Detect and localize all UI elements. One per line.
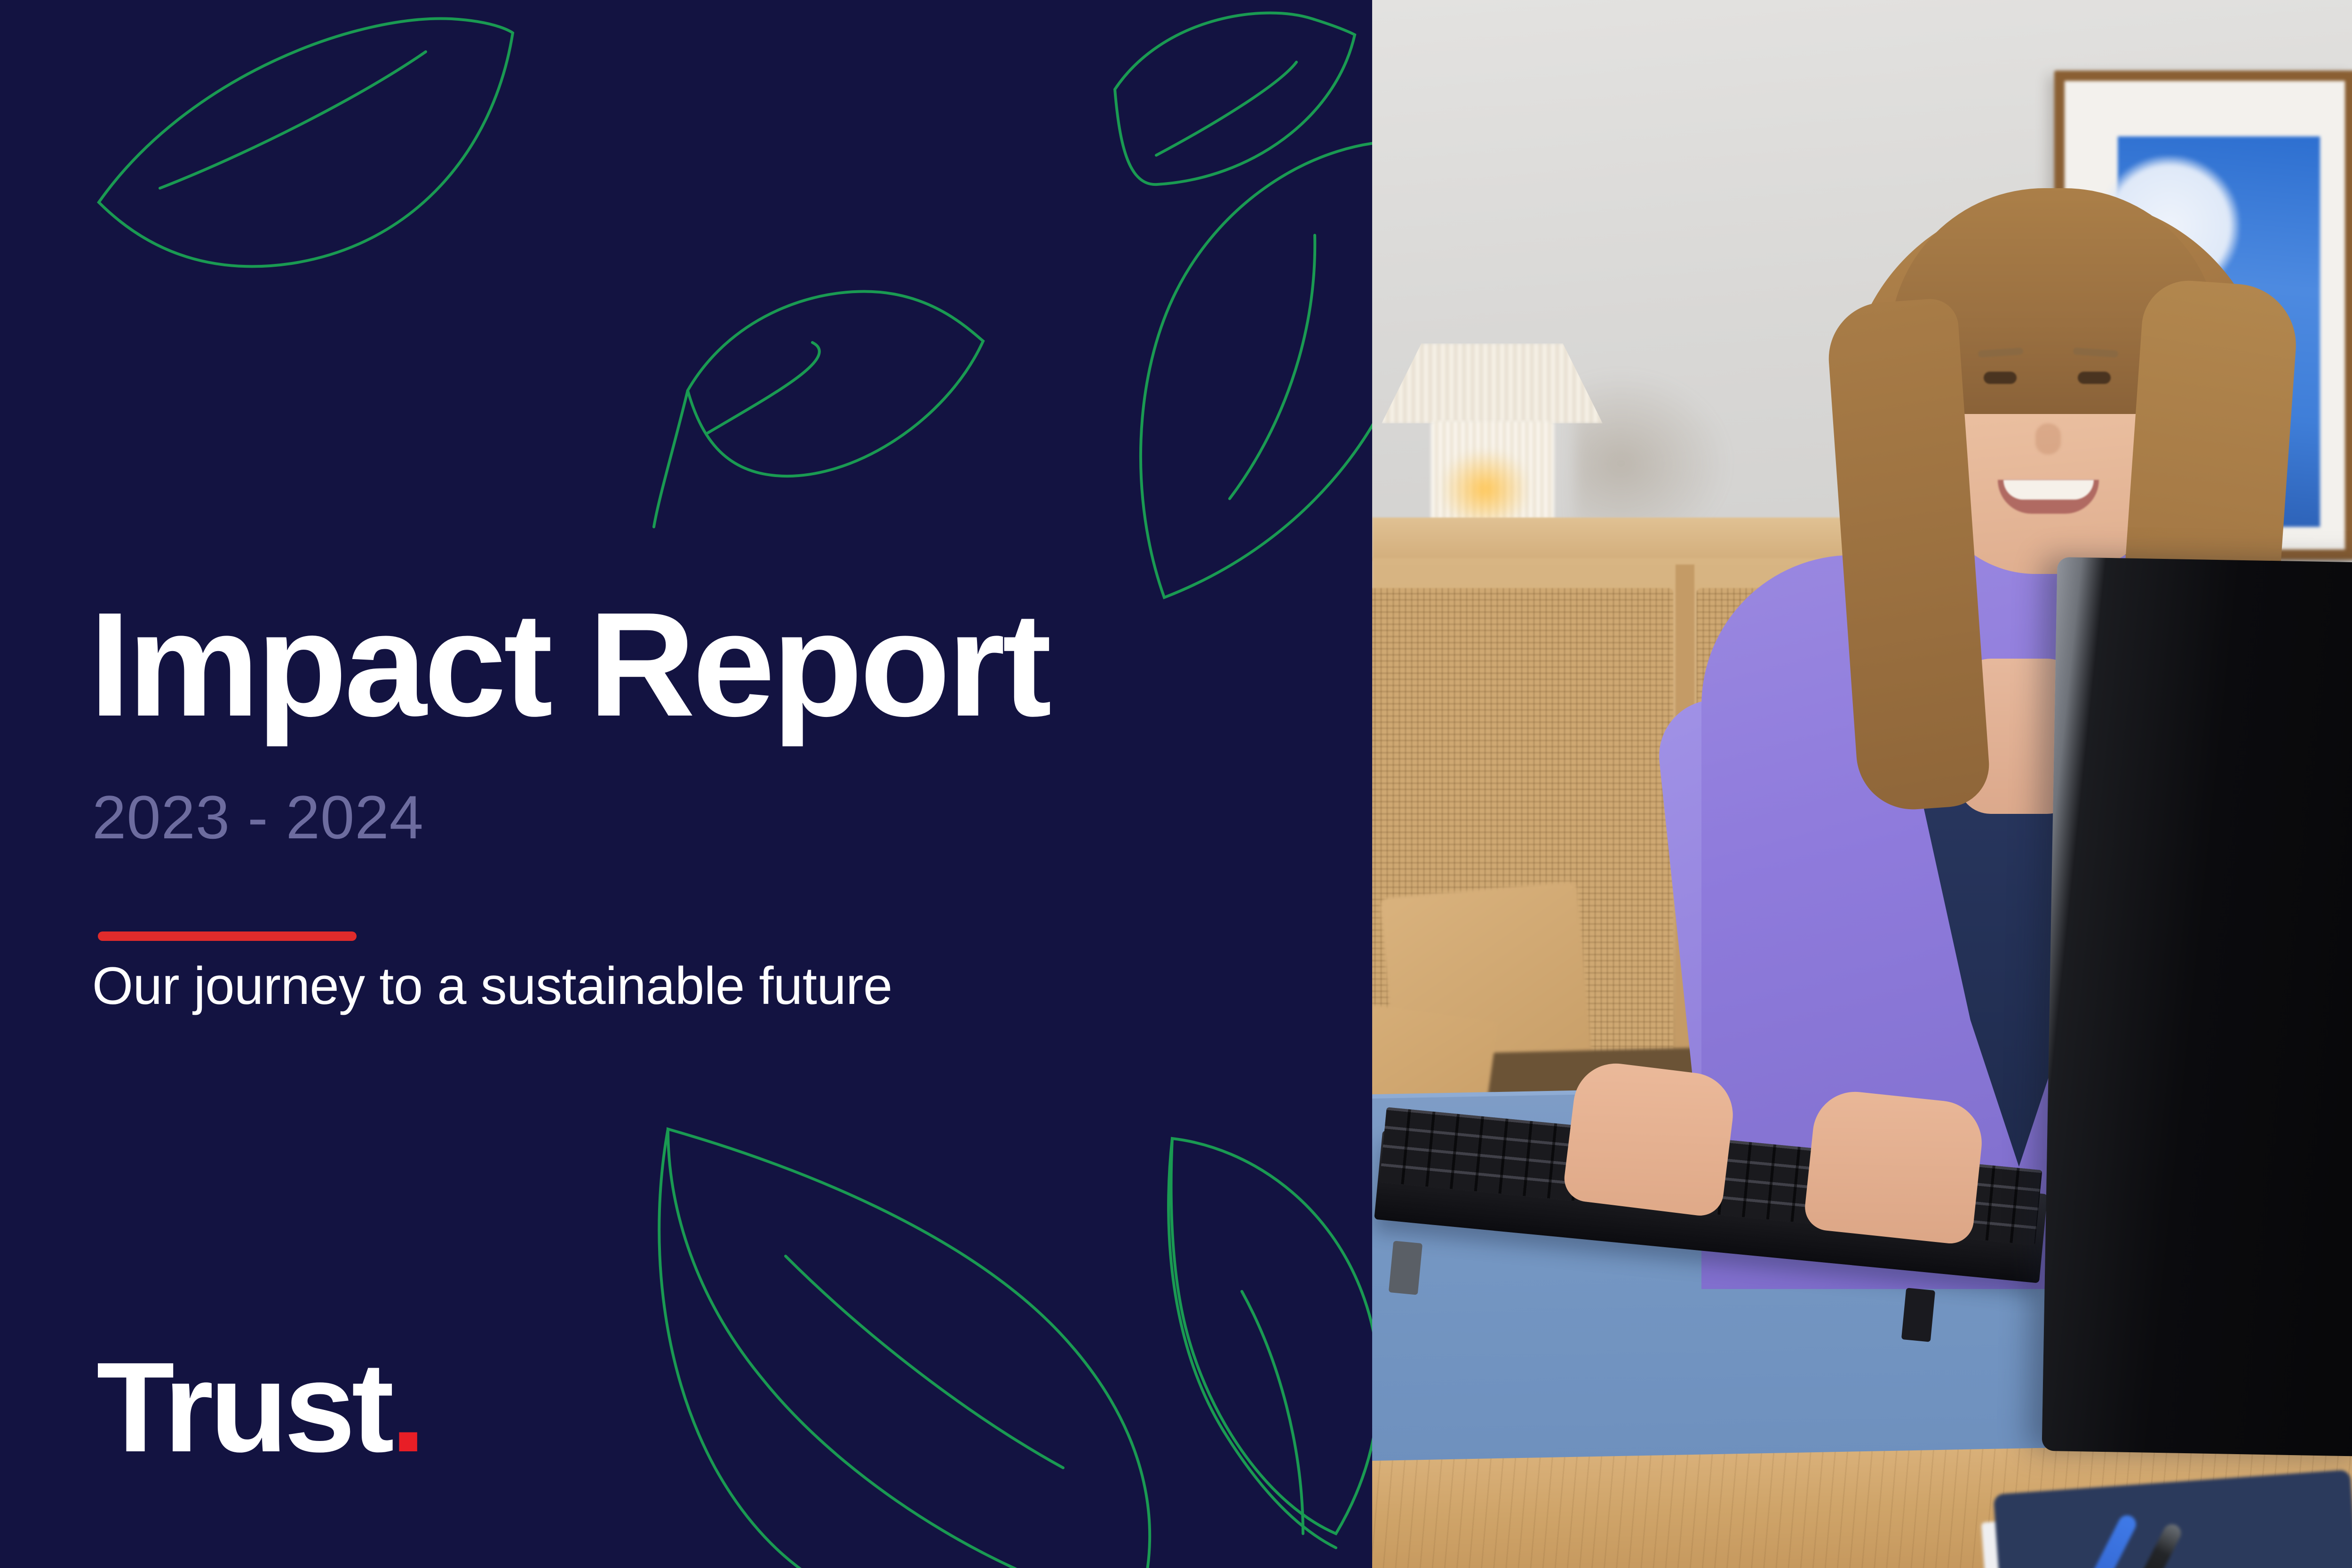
computer-monitor [2042, 557, 2352, 1457]
woman-eye-left [1984, 372, 2017, 384]
lamp-glow [1443, 452, 1527, 527]
trust-logo: Trust. [96, 1343, 422, 1471]
report-years: 2023 - 2024 [92, 787, 424, 848]
page-title: Impact Report [89, 590, 1049, 739]
trust-logo-dot: . [390, 1336, 422, 1479]
trust-logo-wordmark: Trust [96, 1336, 390, 1479]
cover-left-panel: Impact Report 2023 - 2024 Our journey to… [0, 0, 1372, 1568]
keyboard-foot-right [1901, 1288, 1935, 1342]
woman-hand-right [1803, 1088, 1986, 1246]
cover-text-block: Impact Report 2023 - 2024 Our journey to… [0, 0, 1372, 1568]
red-accent-rule [98, 931, 357, 941]
woman-nose [2035, 423, 2061, 454]
woman-hand-left [1562, 1059, 1738, 1218]
keyboard-foot-left [1389, 1241, 1422, 1295]
cover-photograph [1372, 0, 2352, 1568]
woman-teeth [2003, 480, 2094, 500]
woman-eye-right [2078, 372, 2111, 384]
impact-report-cover: Impact Report 2023 - 2024 Our journey to… [0, 0, 2352, 1568]
page-tagline: Our journey to a sustainable future [92, 960, 892, 1012]
